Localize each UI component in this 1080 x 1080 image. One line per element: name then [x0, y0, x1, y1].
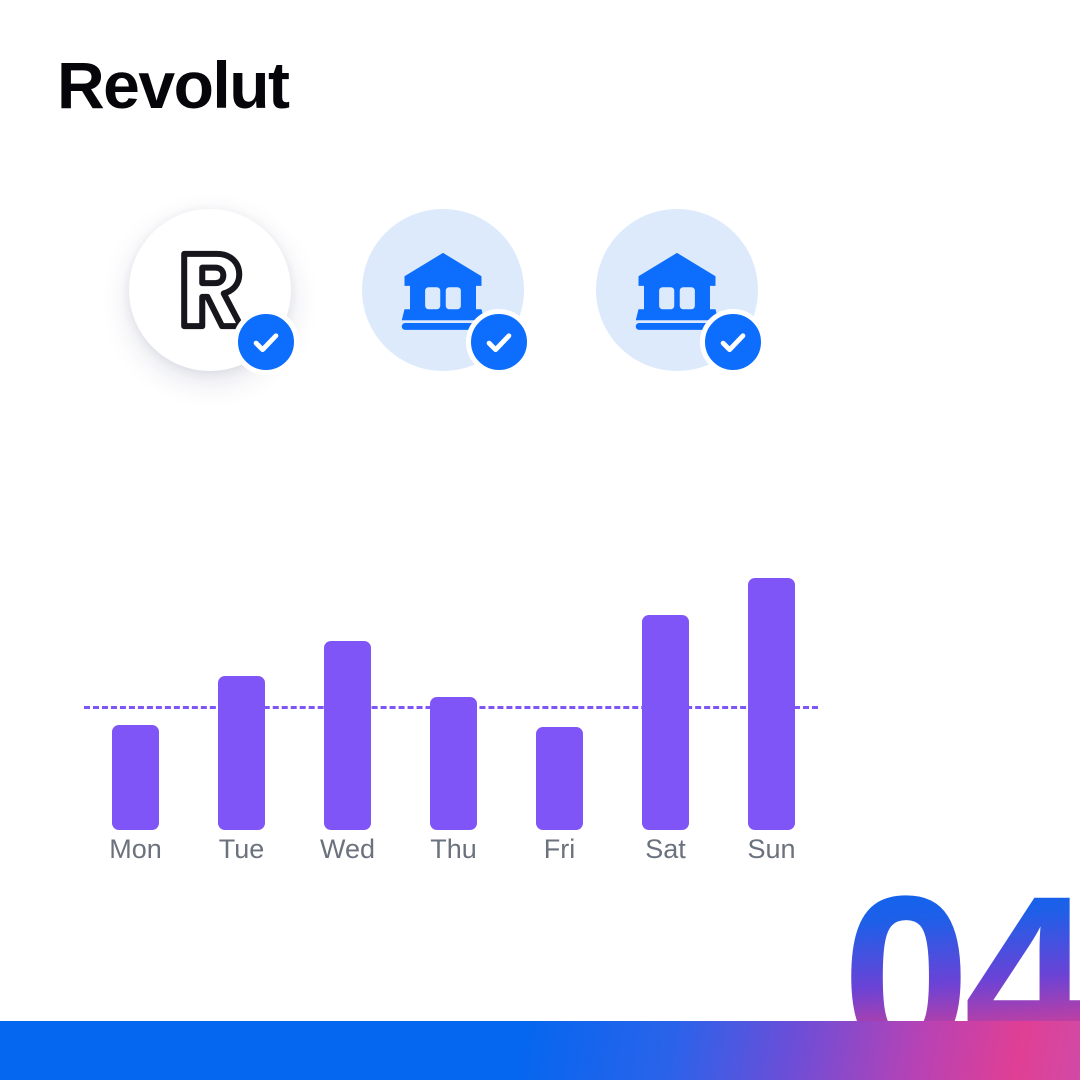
- chart-plot-area: [0, 540, 1080, 830]
- x-label-mon: Mon: [84, 832, 187, 866]
- bar-wed[interactable]: [324, 641, 371, 830]
- x-label-tue: Tue: [190, 832, 293, 866]
- x-label-sun: Sun: [720, 832, 823, 866]
- x-label-fri: Fri: [508, 832, 611, 866]
- footer-gradient-bar: [0, 1021, 1080, 1080]
- bar-thu[interactable]: [430, 697, 477, 830]
- verified-badge: [700, 309, 766, 375]
- check-icon: [249, 325, 283, 359]
- check-icon: [716, 325, 750, 359]
- weekly-activity-chart: MonTueWedThuFriSatSun: [0, 540, 1080, 890]
- account-item-revolut[interactable]: [129, 209, 291, 371]
- x-label-thu: Thu: [402, 832, 505, 866]
- verified-badge: [233, 309, 299, 375]
- account-item-bank-2[interactable]: [596, 209, 758, 371]
- x-label-sat: Sat: [614, 832, 717, 866]
- poster-canvas: Revolut: [0, 0, 1080, 1080]
- connected-accounts-row: [0, 0, 1080, 430]
- x-label-wed: Wed: [296, 832, 399, 866]
- bar-tue[interactable]: [218, 676, 265, 830]
- bar-fri[interactable]: [536, 727, 583, 830]
- bar-sun[interactable]: [748, 578, 795, 830]
- bar-mon[interactable]: [112, 725, 159, 830]
- account-item-bank-1[interactable]: [362, 209, 524, 371]
- bar-sat[interactable]: [642, 615, 689, 830]
- check-icon: [482, 325, 516, 359]
- average-dashed-line: [84, 706, 818, 709]
- verified-badge: [466, 309, 532, 375]
